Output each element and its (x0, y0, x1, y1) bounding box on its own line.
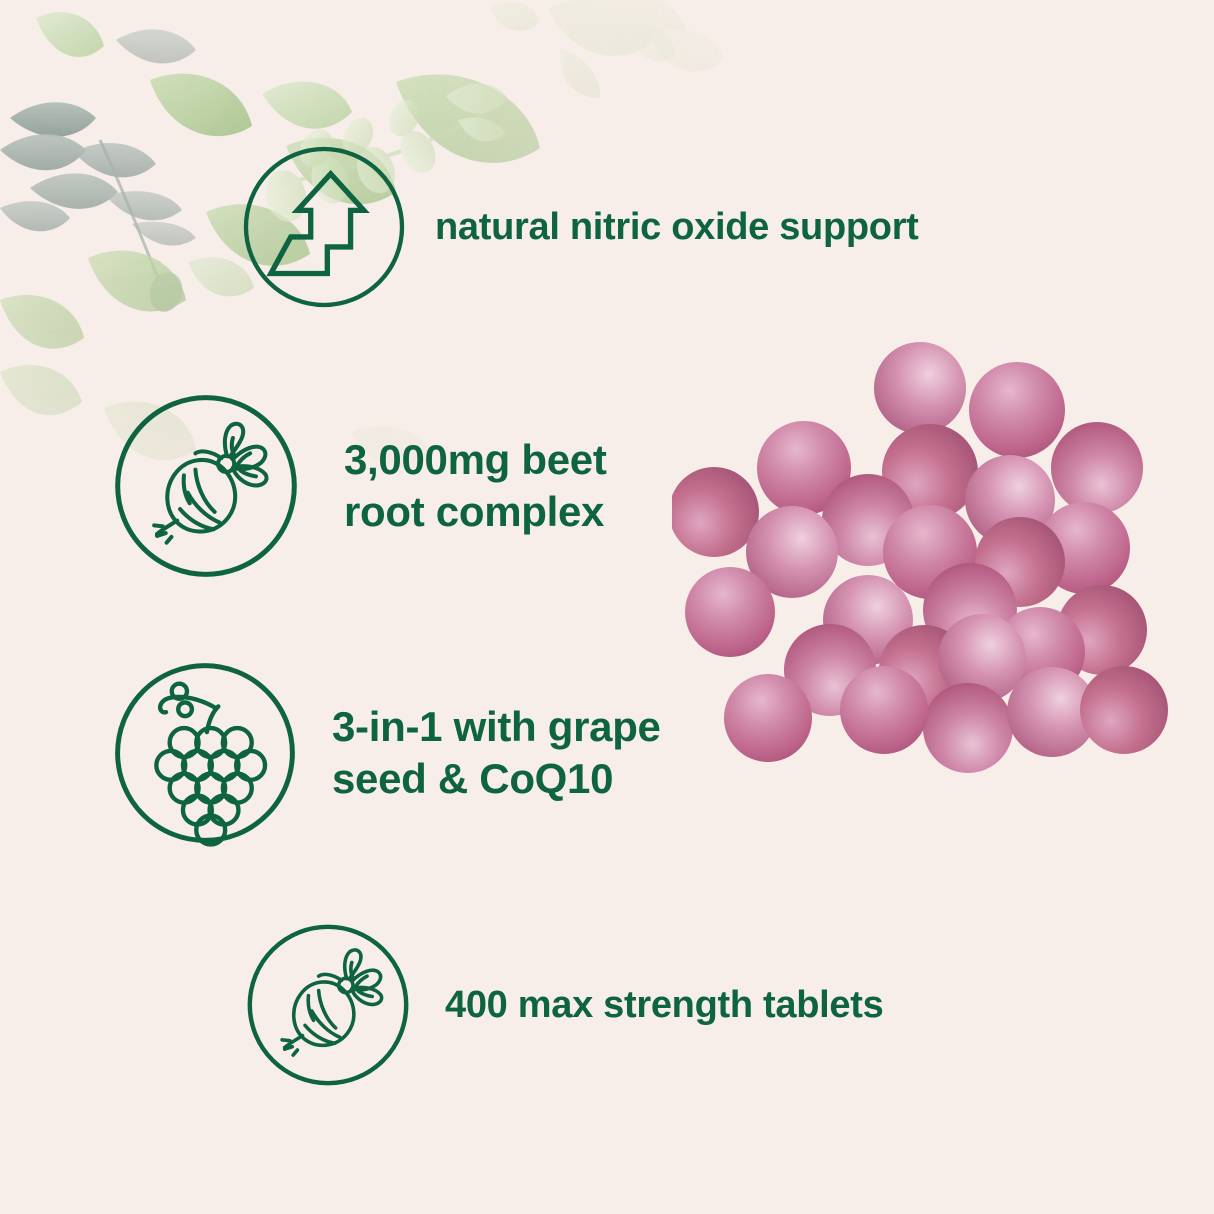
benefit-row-beet-root-complex: 3,000mg beet root complex (110, 390, 607, 582)
benefit-row-nitric-oxide: natural nitric oxide support (241, 144, 919, 310)
product-benefits-infographic: natural nitric oxide support (0, 0, 1214, 1214)
grape-cluster-icon (110, 658, 300, 848)
benefit-label-three-in-one: 3-in-1 with grape seed & CoQ10 (332, 701, 661, 805)
upward-zigzag-arrow-icon (241, 144, 407, 310)
beet-root-icon (243, 920, 413, 1090)
benefit-row-tablet-count: 400 max strength tablets (243, 920, 883, 1090)
benefit-label-nitric-oxide: natural nitric oxide support (435, 204, 919, 251)
benefit-label-tablet-count: 400 max strength tablets (445, 982, 883, 1029)
benefit-label-beet-root-complex: 3,000mg beet root complex (344, 434, 607, 538)
benefit-row-three-in-one: 3-in-1 with grape seed & CoQ10 (110, 658, 661, 848)
beet-root-icon (110, 390, 302, 582)
beet-root-tablets-photo (672, 340, 1184, 790)
